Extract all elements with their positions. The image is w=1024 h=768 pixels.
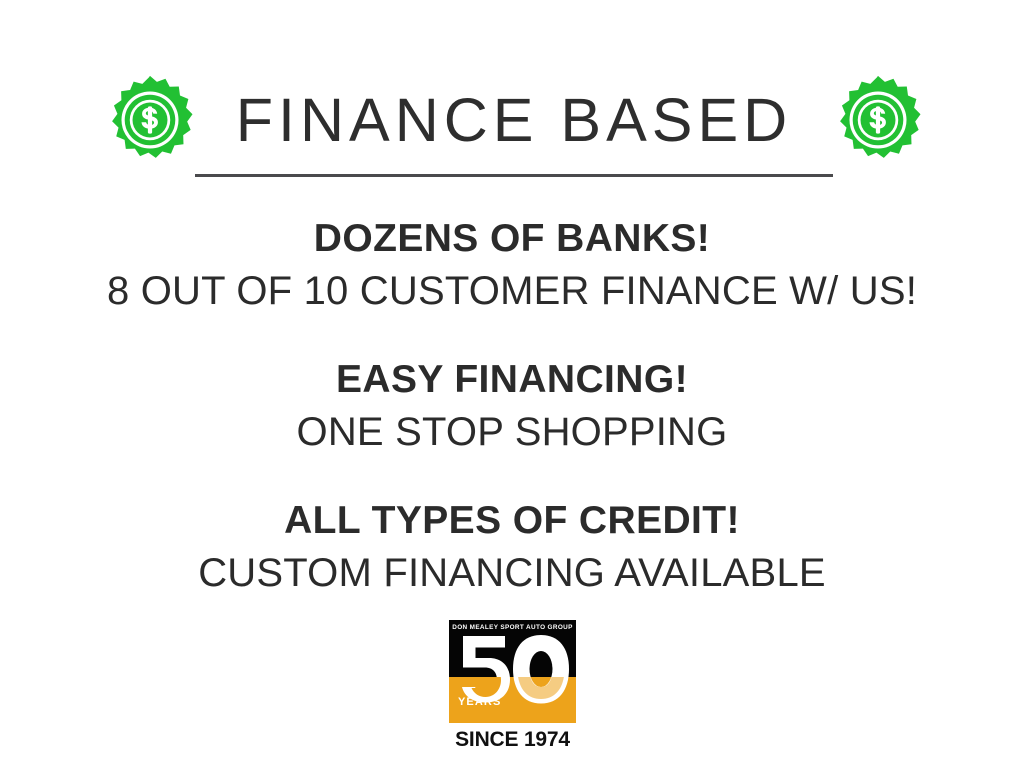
selling-point-subline: 8 OUT OF 10 CUSTOMER FINANCE W/ US! [0, 265, 1024, 317]
dealer-logo: DON MEALEY SPORT AUTO GROUP [449, 620, 576, 751]
selling-point-block: ALL TYPES OF CREDIT! CUSTOM FINANCING AV… [0, 495, 1024, 599]
page-title: FINANCE BASED [195, 77, 833, 163]
selling-point-headline: ALL TYPES OF CREDIT! [0, 495, 1024, 547]
logo-mark: DON MEALEY SPORT AUTO GROUP [449, 620, 576, 723]
selling-points: DOZENS OF BANKS! 8 OUT OF 10 CUSTOMER FI… [0, 213, 1024, 599]
selling-point-block: DOZENS OF BANKS! 8 OUT OF 10 CUSTOMER FI… [0, 213, 1024, 317]
selling-point-subline: CUSTOM FINANCING AVAILABLE [0, 547, 1024, 599]
selling-point-headline: DOZENS OF BANKS! [0, 213, 1024, 265]
money-gear-icon [104, 74, 196, 166]
selling-point-block: EASY FINANCING! ONE STOP SHOPPING [0, 354, 1024, 458]
finance-based-slide: FINANCE BASED DOZENS OF BANKS! 8 OUT [0, 0, 1024, 768]
slide-header: FINANCE BASED [0, 74, 1024, 174]
money-gear-icon [832, 74, 924, 166]
logo-years-label: YEARS [458, 696, 501, 709]
selling-point-subline: ONE STOP SHOPPING [0, 406, 1024, 458]
logo-since-label: SINCE 1974 [449, 728, 576, 751]
title-divider [195, 174, 833, 177]
selling-point-headline: EASY FINANCING! [0, 354, 1024, 406]
